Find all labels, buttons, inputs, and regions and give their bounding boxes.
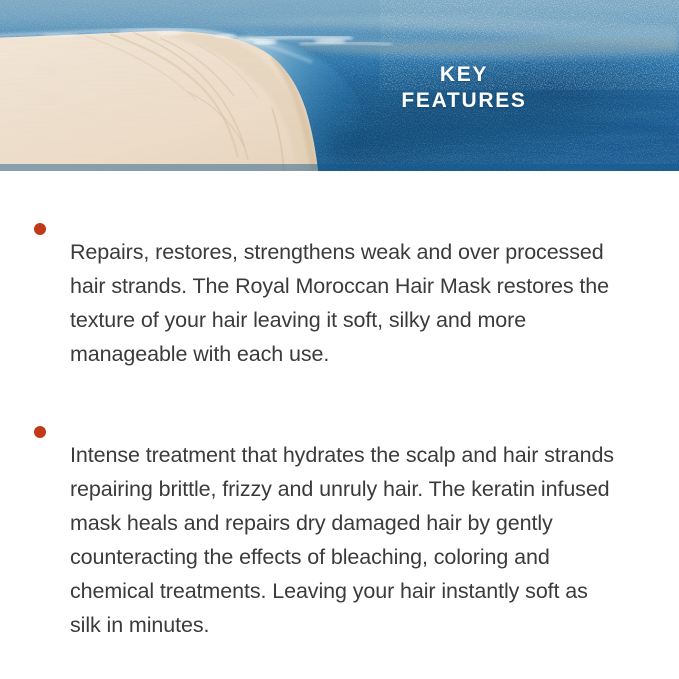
hero-banner: KEY FEATURES: [0, 0, 679, 171]
beach-aerial-photo: [0, 0, 679, 171]
bullet-dot-icon: [34, 223, 46, 235]
feature-item: Repairs, restores, strengthens weak and …: [34, 213, 619, 392]
key-features-page: KEY FEATURES Repairs, restores, strength…: [0, 0, 679, 679]
feature-text: Repairs, restores, strengthens weak and …: [70, 235, 619, 371]
feature-item: Intense treatment that hydrates the scal…: [34, 416, 619, 663]
features-list: Repairs, restores, strengthens weak and …: [0, 171, 679, 663]
bullet-dot-icon: [34, 426, 46, 438]
feature-text: Intense treatment that hydrates the scal…: [70, 438, 619, 642]
